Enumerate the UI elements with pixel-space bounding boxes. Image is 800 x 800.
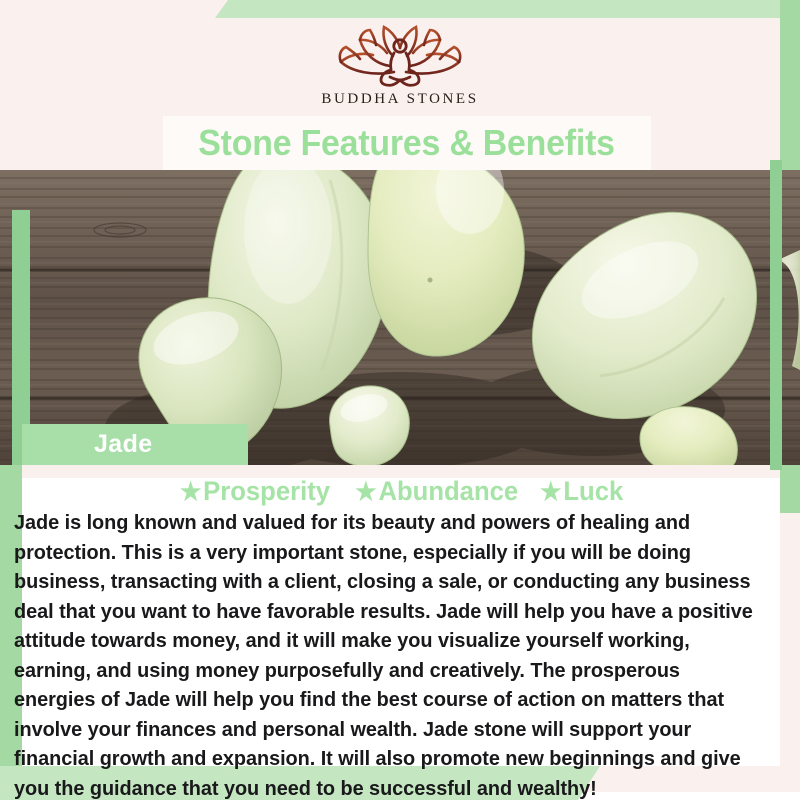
benefit-item: ★Prosperity [180, 476, 330, 507]
description-panel: ★Prosperity ★Abundance ★Luck Jade is lon… [22, 465, 780, 766]
stone-name-badge: Jade [22, 424, 248, 465]
decorative-bar-right-overlay [770, 160, 782, 470]
benefits-list: ★Prosperity ★Abundance ★Luck [22, 476, 780, 507]
jade-stones-photo [0, 170, 800, 465]
stone-name-label: Jade [94, 430, 153, 459]
benefit-label: Prosperity [203, 476, 330, 506]
stone-benefits-poster: BUDDHA STONES Stone Features & Benefits [0, 0, 800, 800]
benefit-item: ★Luck [541, 476, 624, 507]
brand-name: BUDDHA STONES [321, 91, 478, 108]
benefit-item: ★Abundance [355, 476, 518, 507]
description-text: Jade is long known and valued for its be… [14, 508, 763, 800]
benefit-label: Abundance [378, 476, 518, 506]
star-icon: ★ [355, 478, 376, 506]
benefit-label: Luck [564, 476, 624, 506]
page-title: Stone Features & Benefits [199, 122, 616, 164]
star-icon: ★ [541, 478, 562, 506]
lotus-meditation-icon [324, 22, 476, 88]
brand-header: BUDDHA STONES [0, 0, 800, 118]
star-icon: ★ [180, 478, 201, 506]
title-banner: Stone Features & Benefits [163, 116, 651, 170]
